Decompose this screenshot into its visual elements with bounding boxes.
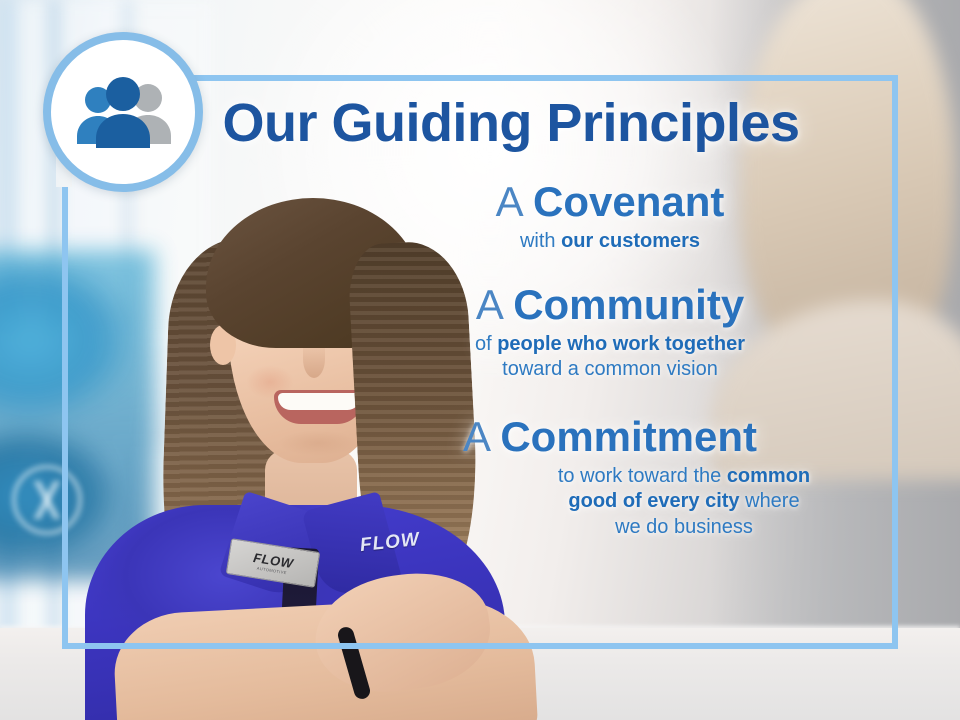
subtext-part: of <box>475 333 497 355</box>
principle-commitment: A Commitment to work toward the common g… <box>330 413 890 541</box>
principle-heading: A Community <box>330 281 890 328</box>
principle-heading: A Covenant <box>330 178 890 225</box>
principle-community: A Community of people who work together … <box>330 281 890 383</box>
subtext-line-2-suffix: where <box>740 490 800 512</box>
page-title: Our Guiding Principles <box>0 92 960 154</box>
principle-subtext: to work toward the common good of every … <box>484 464 884 541</box>
principle-article: A <box>463 413 489 460</box>
guiding-principles-graphic: FLOW FLOW AUTOMOTIVE Our Guiding Prin <box>0 0 960 720</box>
principle-word: Community <box>513 281 744 328</box>
principle-covenant: A Covenant with our customers <box>330 178 890 255</box>
subtext-part-bold: our customers <box>561 230 700 252</box>
subtext-part-bold: common <box>727 465 810 487</box>
subtext-line-2-bold: good of every city <box>568 490 739 512</box>
subtext-line-3: we do business <box>615 516 753 538</box>
principle-article: A <box>476 281 502 328</box>
principle-subtext: with our customers <box>330 229 890 255</box>
principle-word: Commitment <box>500 413 757 460</box>
subtext-part-bold: people who work together <box>497 333 745 355</box>
principle-article: A <box>496 178 522 225</box>
subtext-part: to work toward the <box>558 465 727 487</box>
subtext-line-2: toward a common vision <box>502 358 718 380</box>
principle-word: Covenant <box>533 178 724 225</box>
subtext-part: with <box>520 230 561 252</box>
principle-subtext: of people who work together toward a com… <box>330 332 890 383</box>
principle-heading: A Commitment <box>330 413 890 460</box>
principles-list: A Covenant with our customers A Communit… <box>330 178 890 547</box>
